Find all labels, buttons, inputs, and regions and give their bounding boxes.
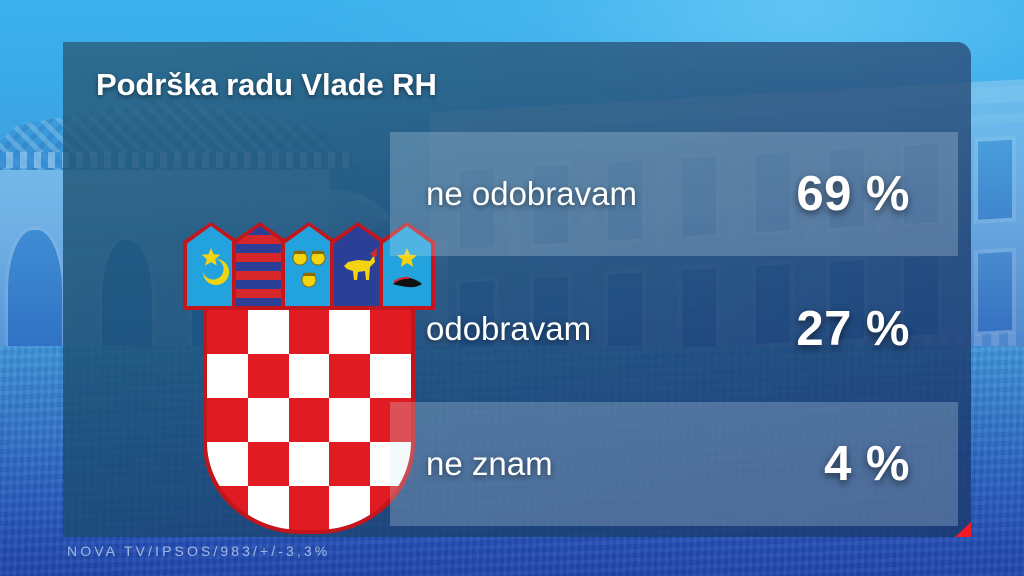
results-panel: Podrška radu Vlade RH <box>63 42 971 537</box>
list-item: ne znam 4 % <box>390 402 958 526</box>
result-value: 69 % <box>796 166 910 222</box>
result-label: ne odobravam <box>426 175 637 213</box>
source-credit: NOVA TV/IPSOS/983/+/-3,3% <box>67 543 330 559</box>
list-item: odobravam 27 % <box>390 267 958 391</box>
result-value: 27 % <box>796 301 910 357</box>
result-value: 4 % <box>824 436 910 492</box>
result-label: ne znam <box>426 445 553 483</box>
broadcast-graphic: Podrška radu Vlade RH <box>0 0 1024 576</box>
checkerboard <box>207 310 411 530</box>
result-label: odobravam <box>426 310 591 348</box>
page-title: Podrška radu Vlade RH <box>96 67 437 103</box>
poll-results-list: ne odobravam 69 % odobravam 27 % ne znam… <box>390 132 971 537</box>
list-item: ne odobravam 69 % <box>390 132 958 256</box>
checkerboard-shield <box>203 306 415 534</box>
